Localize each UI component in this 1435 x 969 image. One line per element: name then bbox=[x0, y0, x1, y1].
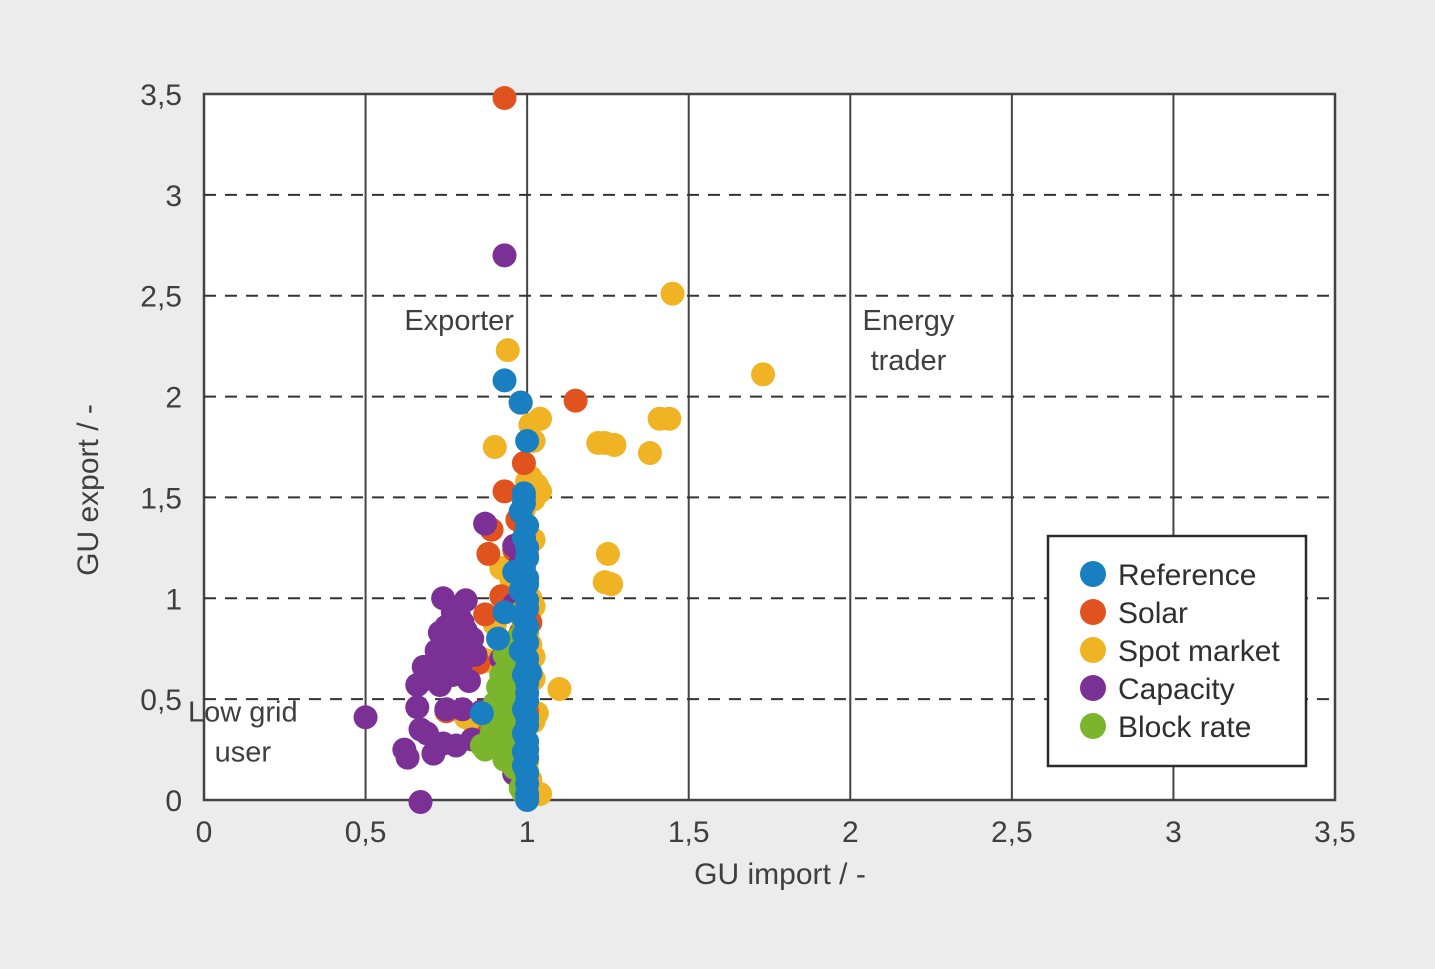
data-point bbox=[486, 627, 510, 651]
data-point bbox=[751, 362, 775, 386]
data-point bbox=[509, 391, 533, 415]
data-point bbox=[476, 542, 500, 566]
y-tick-label: 3 bbox=[165, 180, 182, 213]
y-axis-title: GU export / - bbox=[72, 404, 105, 576]
data-point bbox=[421, 742, 445, 766]
data-point bbox=[547, 677, 571, 701]
data-point bbox=[515, 788, 539, 812]
scatter-chart: ExporterEnergytraderLow griduser 00,511,… bbox=[0, 0, 1435, 969]
legend-swatch-capacity bbox=[1080, 675, 1106, 701]
data-point bbox=[457, 669, 481, 693]
x-tick-label: 0,5 bbox=[345, 816, 387, 849]
data-point bbox=[602, 433, 626, 457]
y-tick-label: 0,5 bbox=[140, 684, 182, 717]
chart-canvas: ExporterEnergytraderLow griduser 00,511,… bbox=[0, 0, 1435, 969]
y-tick-label: 2 bbox=[165, 382, 182, 415]
data-point bbox=[428, 673, 452, 697]
data-point bbox=[564, 389, 588, 413]
data-point bbox=[354, 705, 378, 729]
data-point bbox=[396, 746, 420, 770]
y-tick-label: 0 bbox=[165, 785, 182, 818]
quadrant-label: Exporter bbox=[404, 305, 514, 337]
data-point bbox=[657, 407, 681, 431]
x-tick-label: 1 bbox=[519, 816, 536, 849]
data-point bbox=[405, 695, 429, 719]
chart-legend: ReferenceSolarSpot marketCapacityBlock r… bbox=[1048, 536, 1306, 766]
x-tick-label: 2,5 bbox=[991, 816, 1033, 849]
legend-label-solar: Solar bbox=[1118, 597, 1188, 630]
y-tick-label: 1,5 bbox=[140, 482, 182, 515]
legend-swatch-solar bbox=[1080, 599, 1106, 625]
y-tick-label: 3,5 bbox=[140, 79, 182, 112]
quadrant-label: user bbox=[215, 736, 272, 768]
data-point bbox=[512, 451, 536, 475]
y-tick-label: 2,5 bbox=[140, 281, 182, 314]
data-point bbox=[473, 738, 497, 762]
data-point bbox=[512, 740, 536, 764]
legend-label-capacity: Capacity bbox=[1118, 673, 1235, 706]
x-tick-label: 3,5 bbox=[1314, 816, 1356, 849]
y-tick-label: 1 bbox=[165, 583, 182, 616]
data-point bbox=[518, 661, 542, 685]
x-axis-title: GU import / - bbox=[694, 858, 866, 891]
data-point bbox=[493, 243, 517, 267]
legend-swatch-block-rate bbox=[1080, 713, 1106, 739]
legend-swatch-reference bbox=[1080, 561, 1106, 587]
legend-label-reference: Reference bbox=[1118, 559, 1256, 592]
data-point bbox=[473, 512, 497, 536]
data-point bbox=[470, 701, 494, 725]
data-point bbox=[483, 435, 507, 459]
data-point bbox=[638, 441, 662, 465]
legend-swatch-spot-market bbox=[1080, 637, 1106, 663]
data-point bbox=[596, 542, 620, 566]
x-tick-label: 1,5 bbox=[668, 816, 710, 849]
x-tick-label: 3 bbox=[1165, 816, 1182, 849]
data-point bbox=[502, 560, 526, 584]
data-point bbox=[493, 368, 517, 392]
legend-label-spot-market: Spot market bbox=[1118, 635, 1280, 668]
data-point bbox=[599, 572, 623, 596]
data-point bbox=[493, 86, 517, 110]
data-point bbox=[405, 673, 429, 697]
data-point bbox=[409, 790, 433, 814]
quadrant-label: trader bbox=[871, 345, 947, 377]
x-tick-label: 0 bbox=[196, 816, 213, 849]
data-point bbox=[661, 282, 685, 306]
legend-label-block-rate: Block rate bbox=[1118, 711, 1251, 744]
quadrant-label: Energy bbox=[863, 305, 955, 337]
quadrant-label: Low grid bbox=[188, 696, 298, 728]
data-point bbox=[496, 338, 520, 362]
x-tick-label: 2 bbox=[842, 816, 859, 849]
data-point bbox=[515, 429, 539, 453]
